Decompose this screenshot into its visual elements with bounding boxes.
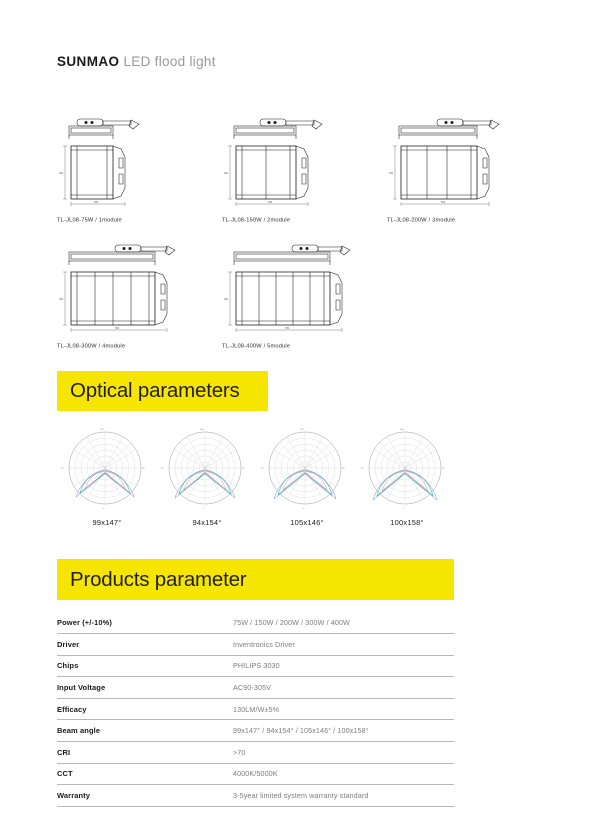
drawing-caption: TL-JL08-400W / 5module xyxy=(222,342,445,349)
spec-label: Driver xyxy=(57,634,233,656)
svg-text:301: 301 xyxy=(389,171,394,175)
svg-text:180: 180 xyxy=(200,429,204,431)
spec-value: >70 xyxy=(233,742,454,764)
drawing-svg-1module: 301 261 xyxy=(57,112,187,216)
product-subtitle: LED flood light xyxy=(123,54,215,69)
drawing-row-1: 301 261 TL-JL08-75W / 1module xyxy=(57,112,557,221)
dim-height-label: 301 xyxy=(59,171,64,175)
specifications-table: Power (+/-10%) 75W / 150W / 200W / 300W … xyxy=(57,612,454,807)
products-parameter-banner: Products parameter xyxy=(57,559,454,600)
drawing-row-2: 301 651 TL-JL08-300W / 4module xyxy=(57,238,557,347)
drawing-item-2module: 301 391 TL-JL08-150W / 2module xyxy=(222,112,387,221)
polar-label: 94x154° xyxy=(157,518,257,527)
table-row: Power (+/-10%) 75W / 150W / 200W / 300W … xyxy=(57,612,454,634)
datasheet-page: SUNMAO LED flood light xyxy=(0,0,611,831)
svg-text:180: 180 xyxy=(300,429,304,431)
spec-label: Beam angle xyxy=(57,720,233,742)
optical-parameters-banner: Optical parameters xyxy=(57,371,268,411)
technical-drawings: 301 261 TL-JL08-75W / 1module xyxy=(57,112,557,347)
spec-value: 99x147° / 94x154° / 105x146° / 100x158° xyxy=(233,720,454,742)
drawing-svg-2module: 301 391 xyxy=(222,112,362,216)
table-row: CRI >70 xyxy=(57,742,454,764)
table-row: Warranty 3-5year limited system warranty… xyxy=(57,785,454,807)
polar-label: 100x158° xyxy=(357,518,457,527)
drawing-svg-4module: 301 651 xyxy=(57,238,202,342)
svg-text:90: 90 xyxy=(161,468,164,470)
svg-text:781: 781 xyxy=(285,326,290,330)
spec-value: 3-5year limited system warranty standard xyxy=(233,785,454,807)
svg-text:0: 0 xyxy=(403,508,405,510)
polar-label: 105x146° xyxy=(257,518,357,527)
svg-text:180: 180 xyxy=(100,429,104,431)
spec-value: AC90-305V xyxy=(233,677,454,699)
svg-text:180: 180 xyxy=(400,429,404,431)
svg-text:301: 301 xyxy=(59,297,64,301)
svg-text:301: 301 xyxy=(224,297,229,301)
table-row: Beam angle 99x147° / 94x154° / 105x146° … xyxy=(57,720,454,742)
svg-text:301: 301 xyxy=(224,171,229,175)
spec-value: 4000K/5000K xyxy=(233,763,454,785)
svg-text:90: 90 xyxy=(142,468,145,470)
drawing-svg-3module: 301 521 xyxy=(387,112,537,216)
table-row: Chips PHILIPS 3030 xyxy=(57,655,454,677)
svg-text:521: 521 xyxy=(441,200,446,204)
polar-diagram-3: 180 90 90 0 105x146° xyxy=(257,424,357,527)
polar-label: 99x147° xyxy=(57,518,157,527)
drawing-item-1module: 301 261 TL-JL08-75W / 1module xyxy=(57,112,222,221)
svg-text:391: 391 xyxy=(268,200,273,204)
dim-width-label: 261 xyxy=(94,200,99,204)
products-banner-title: Products parameter xyxy=(57,568,246,592)
spec-value: 75W / 150W / 200W / 300W / 400W xyxy=(233,612,454,634)
spec-label: Input Voltage xyxy=(57,677,233,699)
table-row: Input Voltage AC90-305V xyxy=(57,677,454,699)
spec-label: CCT xyxy=(57,763,233,785)
svg-text:90: 90 xyxy=(261,468,264,470)
page-title: SUNMAO LED flood light xyxy=(57,54,216,69)
polar-diagram-2: 180 90 90 0 94x154° xyxy=(157,424,257,527)
brand-name: SUNMAO xyxy=(57,54,119,69)
spec-label: Power (+/-10%) xyxy=(57,612,233,634)
spec-value: Inventronics Driver xyxy=(233,634,454,656)
spec-label: Chips xyxy=(57,655,233,677)
svg-text:90: 90 xyxy=(342,468,345,470)
svg-text:651: 651 xyxy=(115,326,120,330)
spec-value: 130LM/W±5% xyxy=(233,698,454,720)
table-row: Driver Inventronics Driver xyxy=(57,634,454,656)
table-row: Efficacy 130LM/W±5% xyxy=(57,698,454,720)
spec-label: Warranty xyxy=(57,785,233,807)
spec-label: Efficacy xyxy=(57,698,233,720)
spec-value: PHILIPS 3030 xyxy=(233,655,454,677)
table-row: CCT 4000K/5000K xyxy=(57,763,454,785)
svg-text:90: 90 xyxy=(61,468,64,470)
svg-text:90: 90 xyxy=(361,468,364,470)
svg-text:90: 90 xyxy=(242,468,245,470)
polar-diagrams: 180 90 90 0 99x147° xyxy=(57,424,457,527)
drawing-caption: TL-JL08-200W / 3module xyxy=(387,216,611,223)
optical-banner-title: Optical parameters xyxy=(57,379,240,403)
svg-text:0: 0 xyxy=(303,508,305,510)
svg-text:0: 0 xyxy=(103,508,105,510)
svg-text:0: 0 xyxy=(203,508,205,510)
drawing-item-4module: 301 651 TL-JL08-300W / 4module xyxy=(57,238,222,347)
polar-diagram-4: 180 90 90 0 100x158° xyxy=(357,424,457,527)
spec-label: CRI xyxy=(57,742,233,764)
polar-diagram-1: 180 90 90 0 99x147° xyxy=(57,424,157,527)
drawing-item-3module: 301 521 TL-JL08-200W / 3module xyxy=(387,112,557,221)
svg-text:90: 90 xyxy=(442,468,445,470)
drawing-item-5module: 301 781 TL-JL08-400W / 5module xyxy=(222,238,387,347)
drawing-svg-5module: 301 781 xyxy=(222,238,372,342)
